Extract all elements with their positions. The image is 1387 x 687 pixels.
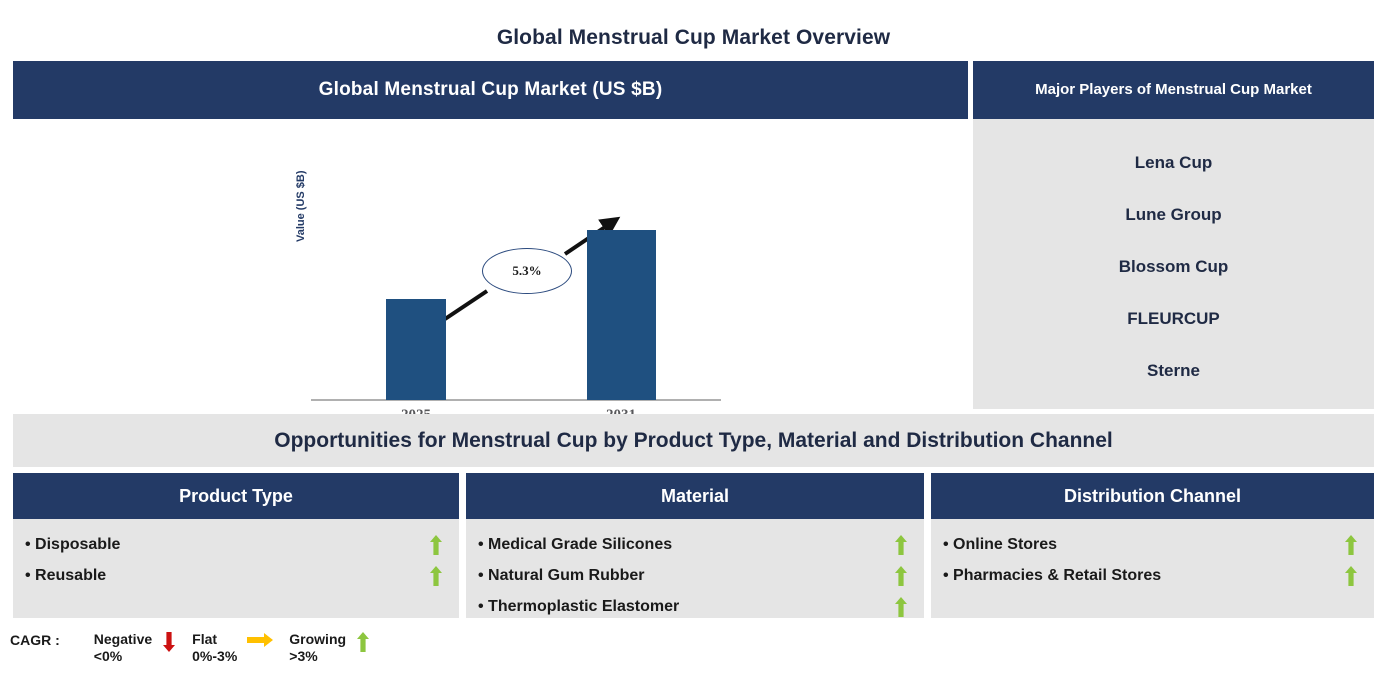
column-items-distribution-channel: • Online Stores • Pharmacies & Retail St… [931,519,1374,618]
legend-item-growing: Growing >3% [289,628,382,665]
list-item-label: • Reusable [25,567,106,585]
arrow-up-glyph [1344,535,1358,555]
list-item: • Thermoplastic Elastomer [478,591,912,622]
legend-title: CAGR : [10,628,60,648]
list-item: Lena Cup [973,137,1374,189]
legend-item-negative: Negative <0% [94,628,188,665]
column-material: Material • Medical Grade Silicones • Nat… [466,473,924,618]
column-items-product-type: • Disposable • Reusable [13,519,459,618]
legend-range-growing: >3% [289,648,346,665]
arrow-up-icon [890,566,912,586]
legend-text-flat: Flat 0%-3% [192,628,237,665]
column-header-product-type: Product Type [13,473,459,519]
arrow-up-icon [425,566,447,586]
list-item-label: • Natural Gum Rubber [478,567,645,585]
column-header-material: Material [466,473,924,519]
legend-text-growing: Growing >3% [289,628,346,665]
column-header-distribution-channel: Distribution Channel [931,473,1374,519]
legend-range-flat: 0%-3% [192,648,237,665]
legend-label-growing: Growing [289,631,346,648]
list-item-label: • Disposable [25,536,120,554]
arrow-down-icon [162,628,176,657]
arrow-down-glyph [162,632,176,652]
arrow-up-icon [1340,566,1362,586]
arrow-up-glyph [894,566,908,586]
column-items-material: • Medical Grade Silicones • Natural Gum … [466,519,924,622]
page-title: Global Menstrual Cup Market Overview [0,26,1387,50]
arrow-right-glyph [247,632,273,648]
bar-2025 [386,299,446,400]
arrow-up-glyph [429,535,443,555]
list-item: • Medical Grade Silicones [478,529,912,560]
list-item-label: • Thermoplastic Elastomer [478,598,679,616]
list-item: • Disposable [25,529,447,560]
list-item: • Reusable [25,560,447,591]
arrow-up-glyph [429,566,443,586]
list-item: Sterne [973,345,1374,397]
market-chart-panel: Global Menstrual Cup Market (US $B) Valu… [13,61,968,409]
list-item: FLEURCUP [973,293,1374,345]
arrow-up-icon [425,535,447,555]
list-item-label: • Online Stores [943,536,1057,554]
arrow-up-icon [356,628,370,657]
legend-range-negative: <0% [94,648,152,665]
column-distribution-channel: Distribution Channel • Online Stores • P… [931,473,1374,618]
major-players-panel: Major Players of Menstrual Cup Market Le… [973,61,1374,409]
list-item: • Online Stores [943,529,1362,560]
bar-2031 [587,230,656,400]
list-item: • Pharmacies & Retail Stores [943,560,1362,591]
legend-label-negative: Negative [94,631,152,648]
top-row: Global Menstrual Cup Market (US $B) Valu… [13,61,1374,409]
list-item: Lune Group [973,189,1374,241]
players-panel-header: Major Players of Menstrual Cup Market [973,61,1374,119]
arrow-up-glyph [894,535,908,555]
arrow-up-glyph [1344,566,1358,586]
list-item: Blossom Cup [973,241,1374,293]
column-product-type: Product Type • Disposable • Reusable [13,473,459,618]
list-item-label: • Pharmacies & Retail Stores [943,567,1161,585]
legend-item-flat: Flat 0%-3% [192,628,285,665]
arrow-up-glyph [894,597,908,617]
players-list: Lena Cup Lune Group Blossom Cup FLEURCUP… [973,119,1374,409]
arrow-up-icon [890,535,912,555]
opportunity-columns: Product Type • Disposable • Reusable [13,473,1374,618]
arrow-up-icon [890,597,912,617]
opportunities-banner: Opportunities for Menstrual Cup by Produ… [13,414,1374,467]
legend-label-flat: Flat [192,631,237,648]
list-item-label: • Medical Grade Silicones [478,536,672,554]
arrow-up-icon [1340,535,1362,555]
cagr-value: 5.3% [512,263,541,279]
cagr-legend: CAGR : Negative <0% Flat 0%-3% Growing >… [10,628,386,676]
legend-text-negative: Negative <0% [94,628,152,665]
arrow-right-icon [247,628,273,653]
cagr-bubble: 5.3% [482,248,572,294]
arrow-up-glyph [356,632,370,652]
chart-panel-header: Global Menstrual Cup Market (US $B) [13,61,968,119]
list-item: • Natural Gum Rubber [478,560,912,591]
chart-body: Value (US $B) 5.3% 2025 20 [13,119,968,409]
